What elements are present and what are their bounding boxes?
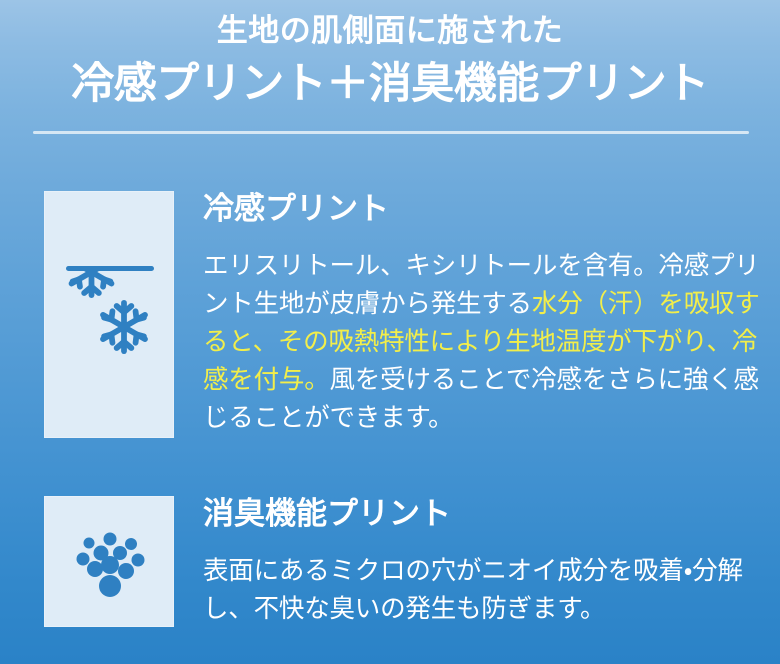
micro-pores-dots-icon bbox=[45, 497, 175, 628]
page-title-line-1: 生地の肌側面に施された bbox=[0, 0, 780, 51]
deodorant-print-description: 表面にあるミクロの穴がニオイ成分を吸着・分解し、不快な臭いの発生も防ぎます。 bbox=[203, 532, 762, 628]
section-cooling-print: 冷感プリント エリスリトール、キシリトールを含有。冷感プリント生地が皮膚から発生… bbox=[0, 191, 780, 438]
page-title-line-2: 冷感プリント＋消臭機能プリント bbox=[0, 51, 780, 110]
header-divider bbox=[33, 131, 749, 134]
header: 生地の肌側面に施された 冷感プリント＋消臭機能プリント bbox=[0, 0, 780, 110]
deodorant-icon-box bbox=[44, 496, 174, 627]
cooling-icon-box bbox=[44, 191, 174, 438]
promo-panel: 生地の肌側面に施された 冷感プリント＋消臭機能プリント bbox=[0, 0, 780, 664]
deodorant-print-body: 消臭機能プリント 表面にあるミクロの穴がニオイ成分を吸着・分解し、不快な臭いの発… bbox=[203, 496, 780, 628]
cooling-print-heading: 冷感プリント bbox=[203, 191, 762, 227]
deodorant-text-part-1: 表面にあるミクロの穴がニオイ成分を吸着・分解し、不快な臭いの発生も防ぎます。 bbox=[203, 556, 743, 624]
snowflake-icon bbox=[45, 192, 175, 439]
cooling-print-body: 冷感プリント エリスリトール、キシリトールを含有。冷感プリント生地が皮膚から発生… bbox=[203, 191, 780, 437]
cooling-print-description: エリスリトール、キシリトールを含有。冷感プリント生地が皮膚から発生する水分（汗）… bbox=[203, 227, 762, 437]
deodorant-print-heading: 消臭機能プリント bbox=[203, 496, 762, 532]
section-deodorant-print: 消臭機能プリント 表面にあるミクロの穴がニオイ成分を吸着・分解し、不快な臭いの発… bbox=[0, 496, 780, 628]
